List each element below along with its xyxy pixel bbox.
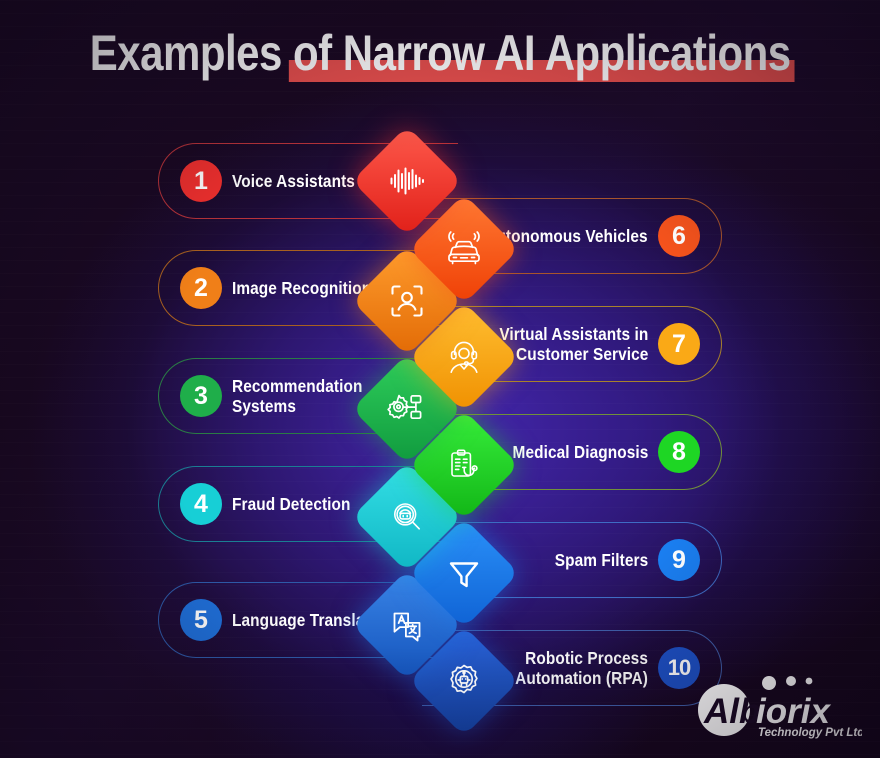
item-1-badge: 1 [180,160,222,202]
logo-name-part1: Alb [703,692,760,731]
item-7-label: Virtual Assistants in Customer Service [499,324,648,364]
item-9-badge: 9 [658,539,700,581]
translate-icon [387,605,427,645]
item-2-label: Image Recognition [232,278,371,298]
headset-agent-icon [444,337,484,377]
face-detect-icon [387,281,427,321]
title-text: Examples of Narrow AI Applications [90,28,791,79]
item-3-badge: 3 [180,375,222,417]
infographic-canvas: Examples of Narrow AI Applications 1 Voi… [0,0,880,758]
title-highlight-part: of Narrow AI Applications [293,25,791,81]
item-10-label: Robotic Process Automation (RPA) [515,648,648,688]
title-highlight: of Narrow AI Applications [293,28,791,79]
company-logo[interactable]: Alb iorix Technology Pvt Ltd [690,666,862,742]
item-8-badge: 8 [658,431,700,473]
item-9-label: Spam Filters [555,550,648,570]
clipboard-medical-icon [444,445,484,485]
smart-car-icon [444,229,484,269]
item-3-label: Recommendation Systems [232,376,362,416]
waveform-icon [387,161,427,201]
funnel-icon [444,553,484,593]
logo-tagline: Technology Pvt Ltd [758,727,862,739]
fraud-search-icon [387,497,427,537]
page-title: Examples of Narrow AI Applications [0,28,880,79]
item-8-label: Medical Diagnosis [512,442,648,462]
item-5-badge: 5 [180,599,222,641]
item-2-badge: 2 [180,267,222,309]
robot-gear-icon [444,661,484,701]
item-4-label: Fraud Detection [232,494,351,514]
item-6-badge: 6 [658,215,700,257]
gear-network-icon [387,389,427,429]
title-plain-part: Examples [90,25,293,81]
item-7-badge: 7 [658,323,700,365]
item-4-badge: 4 [180,483,222,525]
logo-name-part2: iorix [756,692,831,731]
item-1-label: Voice Assistants [232,171,355,191]
